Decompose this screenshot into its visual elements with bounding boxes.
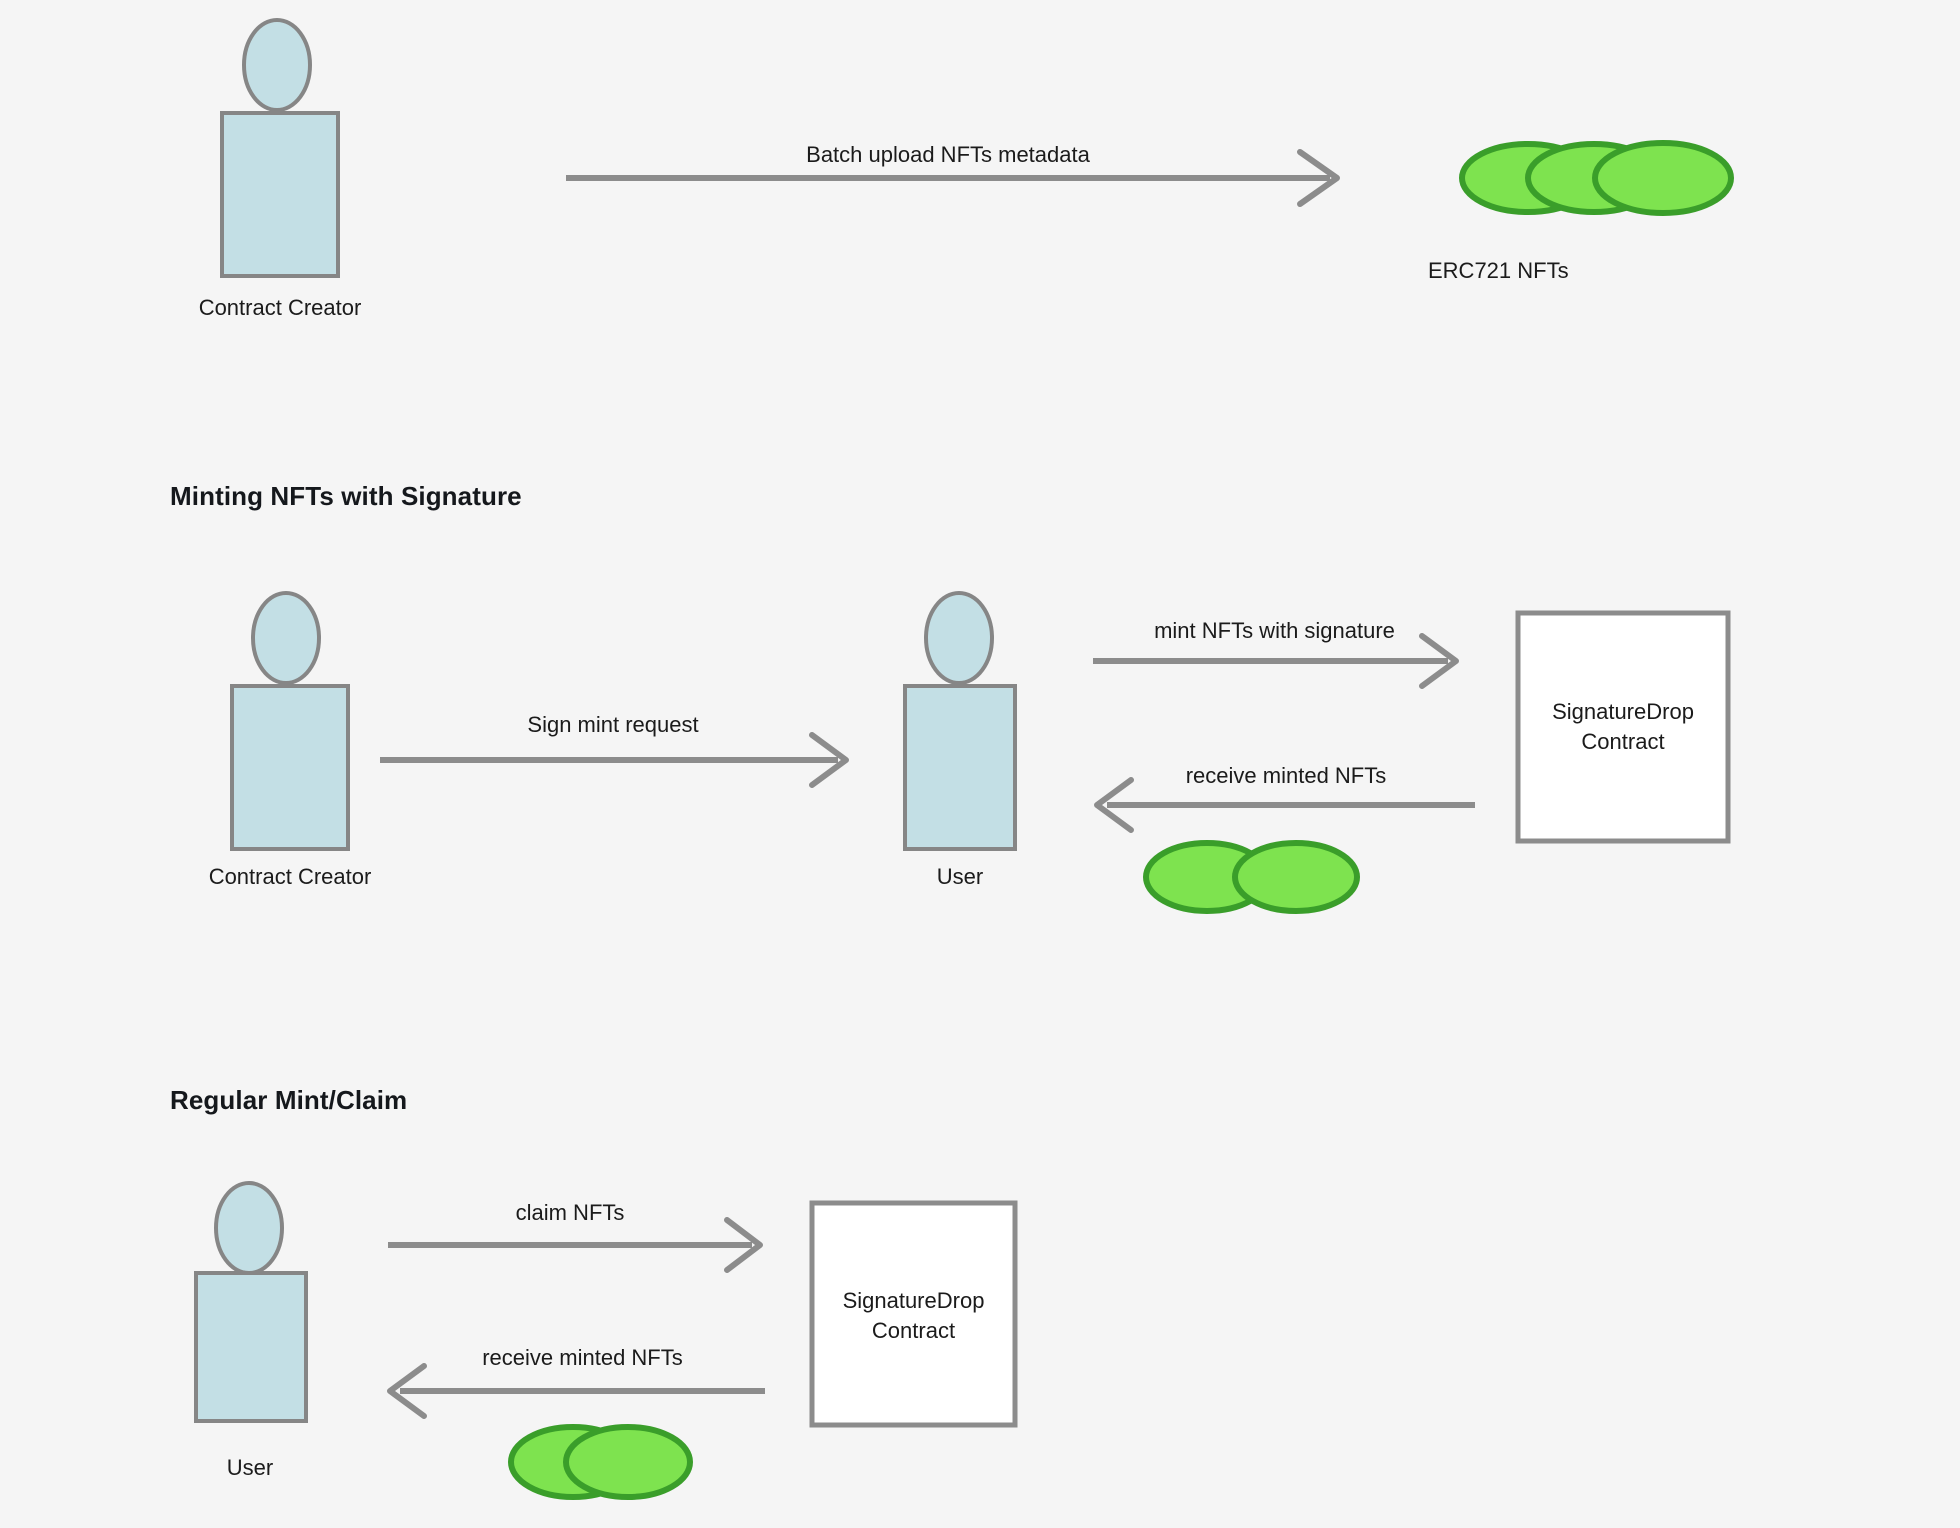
person-icon-body bbox=[222, 113, 338, 276]
contract-box-line2: Contract bbox=[1518, 727, 1728, 757]
contract-box-label-mid: SignatureDrop Contract bbox=[1518, 697, 1728, 758]
person-icon-head bbox=[926, 593, 992, 683]
contract-box-line1: SignatureDrop bbox=[1518, 697, 1728, 727]
edge-label-sign-mint-request: Sign mint request bbox=[380, 712, 846, 738]
nft-token-icon bbox=[1595, 143, 1731, 213]
arrow-right-icon-sign-mint-request bbox=[380, 735, 846, 785]
node-label-user-mid: User bbox=[860, 864, 1060, 890]
actor-contract-creator-top bbox=[222, 20, 338, 276]
diagram-canvas: Batch upload NFTs metadata ERC721 NFTs C… bbox=[0, 0, 1960, 1528]
contract-box-label-bottom: SignatureDrop Contract bbox=[812, 1286, 1015, 1347]
edge-label-claim-nfts: claim NFTs bbox=[388, 1200, 752, 1226]
nft-token-icon bbox=[1235, 843, 1357, 911]
nft-token-icon-group-bottom bbox=[511, 1427, 690, 1497]
arrow-left-icon-receive-minted-nfts-bottom bbox=[390, 1366, 765, 1416]
person-icon-body bbox=[905, 686, 1015, 849]
actor-user-bottom bbox=[196, 1183, 306, 1421]
edge-label-receive-minted-nfts-bottom: receive minted NFTs bbox=[400, 1345, 765, 1371]
node-label-user-bottom: User bbox=[150, 1455, 350, 1481]
edge-label-batch-upload: Batch upload NFTs metadata bbox=[566, 142, 1330, 168]
node-label-contract-creator-mid: Contract Creator bbox=[130, 864, 450, 890]
person-icon-body bbox=[196, 1273, 306, 1421]
nft-token-icon-group-erc721 bbox=[1462, 143, 1731, 213]
person-icon-head bbox=[244, 20, 310, 110]
contract-box-line2: Contract bbox=[812, 1316, 1015, 1346]
node-label-contract-creator-top: Contract Creator bbox=[120, 295, 440, 321]
actor-contract-creator-mid bbox=[232, 593, 348, 849]
actor-user-mid bbox=[905, 593, 1015, 849]
nft-token-icon-group-mid bbox=[1146, 843, 1357, 911]
node-label-erc721-nfts: ERC721 NFTs bbox=[1428, 258, 1898, 284]
person-icon-body bbox=[232, 686, 348, 849]
nft-token-icon bbox=[566, 1427, 690, 1497]
person-icon-head bbox=[216, 1183, 282, 1273]
person-icon-head bbox=[253, 593, 319, 683]
arrow-right-icon-claim-nfts bbox=[388, 1220, 760, 1270]
section-heading-regular-mint-claim: Regular Mint/Claim bbox=[170, 1085, 407, 1116]
section-heading-minting-with-signature: Minting NFTs with Signature bbox=[170, 481, 522, 512]
edge-label-receive-minted-nfts-mid: receive minted NFTs bbox=[1097, 763, 1475, 789]
edge-label-mint-nfts-with-signature: mint NFTs with signature bbox=[1093, 618, 1456, 644]
contract-box-line1: SignatureDrop bbox=[812, 1286, 1015, 1316]
